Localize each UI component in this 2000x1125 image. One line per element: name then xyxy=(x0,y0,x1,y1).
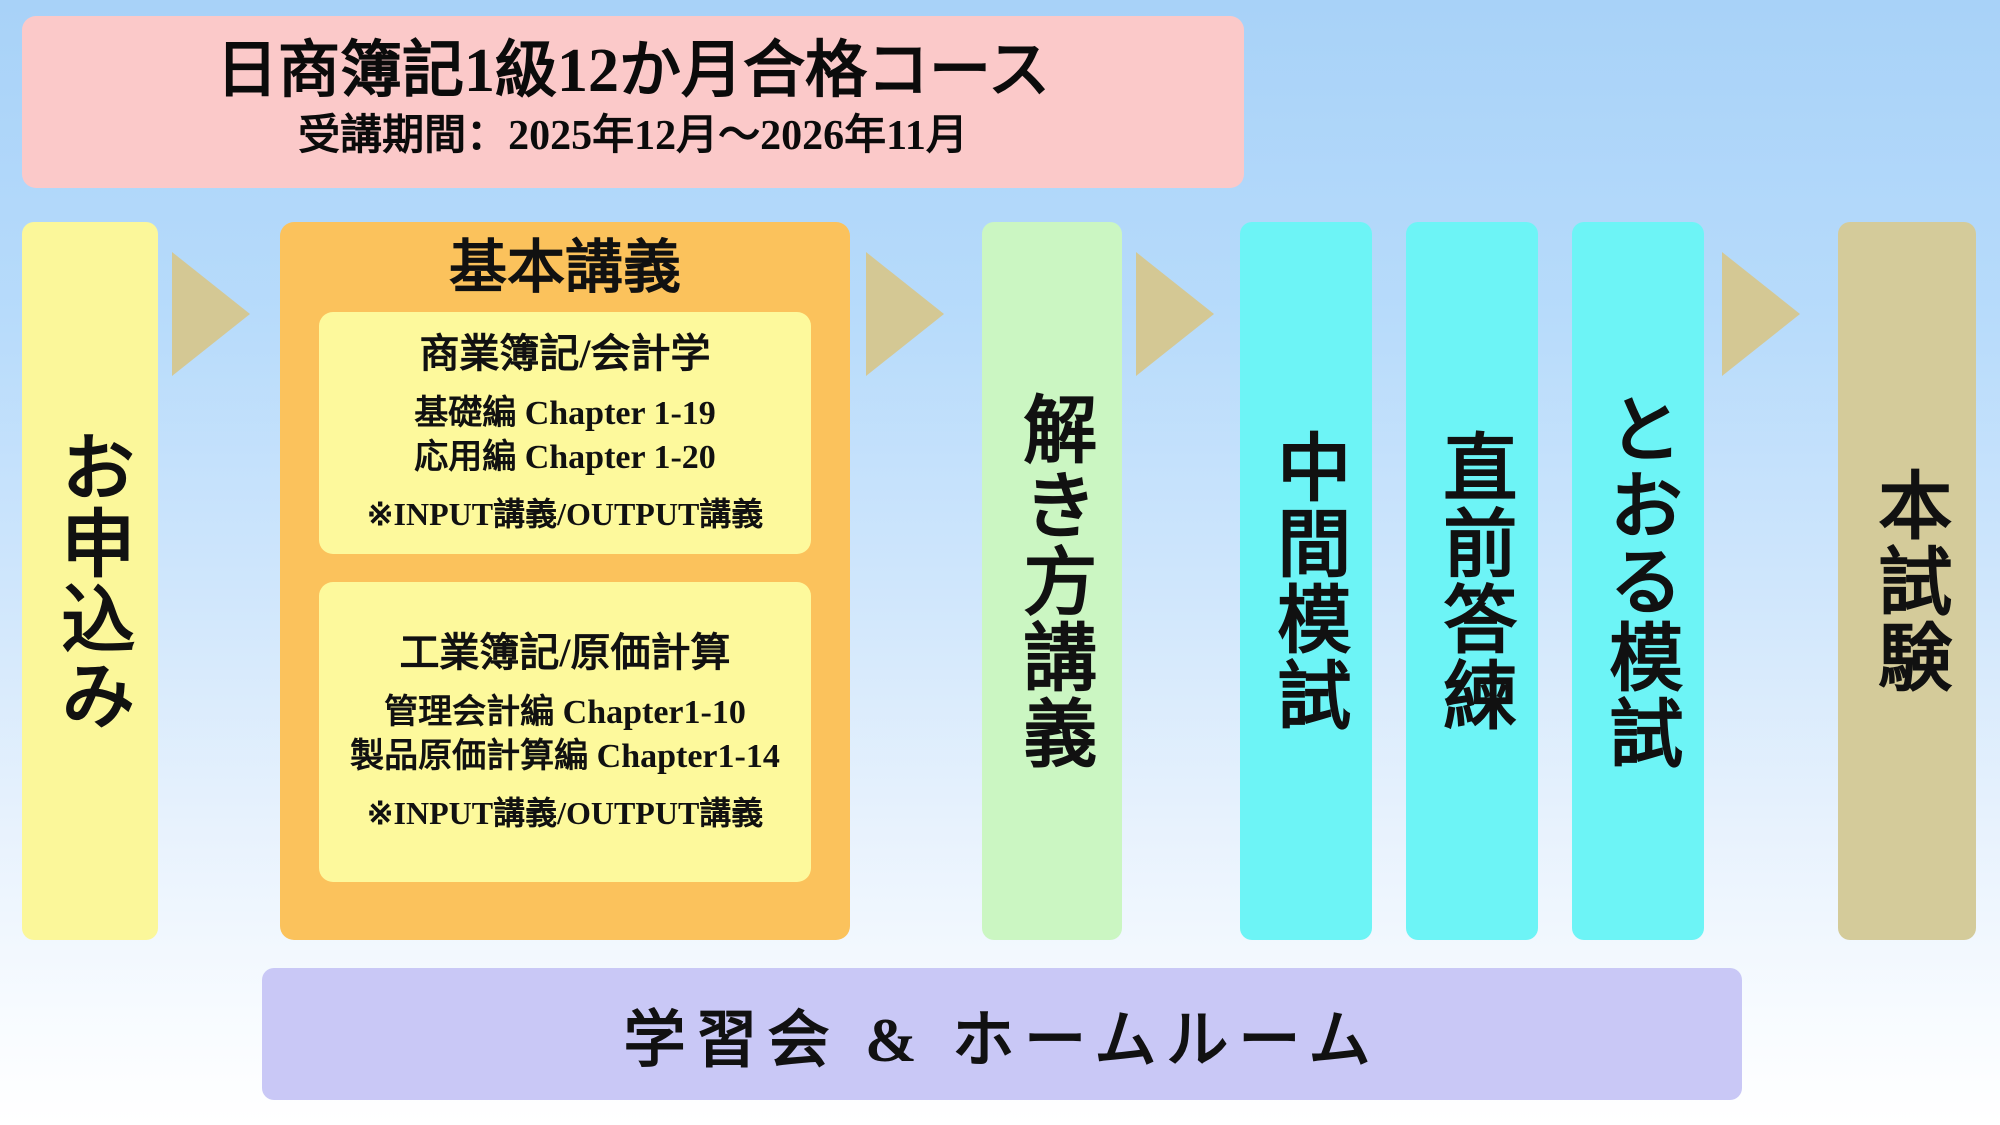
card-commercial-note: ※INPUT講義/OUTPUT講義 xyxy=(367,495,764,533)
stage-solving-text: 解き方講義 xyxy=(982,222,1122,940)
study-group-bar[interactable]: 学習会 & ホームルーム xyxy=(262,968,1742,1100)
arrow-right-icon-1 xyxy=(172,252,250,376)
arrow-right-icon-4 xyxy=(1722,252,1800,376)
stage-toru-text: とおる模試 xyxy=(1572,222,1704,940)
stage-midterm-label: 中間模試 xyxy=(1268,429,1343,733)
stage-application-label: お申込み xyxy=(52,429,127,733)
stage-toru-label: とおる模試 xyxy=(1600,391,1675,771)
diagram-canvas: 日商簿記1級12か月合格コース 受講期間：2025年12月～2026年11月 お… xyxy=(0,0,2000,1125)
card-industrial-line-1: 管理会計編 Chapter1-10 xyxy=(384,691,746,735)
study-group-label: 学習会 & ホームルーム xyxy=(624,989,1381,1079)
stage-preexam-text: 直前答練 xyxy=(1406,222,1538,940)
card-commercial-line-1: 基礎編 Chapter 1-19 xyxy=(414,392,716,436)
card-industrial-line-2: 製品原価計算編 Chapter1-14 xyxy=(350,735,780,779)
card-industrial-note: ※INPUT講義/OUTPUT講義 xyxy=(367,794,764,832)
stage-midterm-mock[interactable]: 中間模試 xyxy=(1240,222,1372,940)
stage-preexam-label: 直前答練 xyxy=(1434,429,1509,733)
stage-real-exam[interactable]: 本試験 xyxy=(1838,222,1976,940)
stage-midterm-text: 中間模試 xyxy=(1240,222,1372,940)
card-commercial-line-2: 応用編 Chapter 1-20 xyxy=(414,436,716,480)
flow-row: お申込み 基本講義 商業簿記/会計学 基礎編 Chapter 1-19 応用編 … xyxy=(0,222,2000,940)
stage-main-lecture[interactable]: 基本講義 商業簿記/会計学 基礎編 Chapter 1-19 応用編 Chapt… xyxy=(280,222,850,940)
card-industrial-bookkeeping[interactable]: 工業簿記/原価計算 管理会計編 Chapter1-10 製品原価計算編 Chap… xyxy=(319,582,811,882)
stage-real-exam-label: 本試験 xyxy=(1869,467,1944,695)
card-commercial-bookkeeping[interactable]: 商業簿記/会計学 基礎編 Chapter 1-19 応用編 Chapter 1-… xyxy=(319,312,811,554)
stage-application[interactable]: お申込み xyxy=(22,222,158,940)
card-commercial-heading: 商業簿記/会計学 xyxy=(419,330,710,378)
header-banner: 日商簿記1級12か月合格コース 受講期間：2025年12月～2026年11月 xyxy=(22,16,1244,188)
stage-toru-mock[interactable]: とおる模試 xyxy=(1572,222,1704,940)
course-title: 日商簿記1級12か月合格コース xyxy=(216,39,1050,104)
card-industrial-heading: 工業簿記/原価計算 xyxy=(399,629,730,677)
course-period: 受講期間：2025年12月～2026年11月 xyxy=(298,112,968,160)
stage-real-exam-text: 本試験 xyxy=(1838,222,1976,940)
stage-solving-label: 解き方講義 xyxy=(1014,391,1089,771)
stage-solving-lecture[interactable]: 解き方講義 xyxy=(982,222,1122,940)
stage-preexam-drill[interactable]: 直前答練 xyxy=(1406,222,1538,940)
arrow-right-icon-3 xyxy=(1136,252,1214,376)
stage-application-text: お申込み xyxy=(22,222,158,940)
main-lecture-title: 基本講義 xyxy=(449,236,681,300)
arrow-right-icon-2 xyxy=(866,252,944,376)
